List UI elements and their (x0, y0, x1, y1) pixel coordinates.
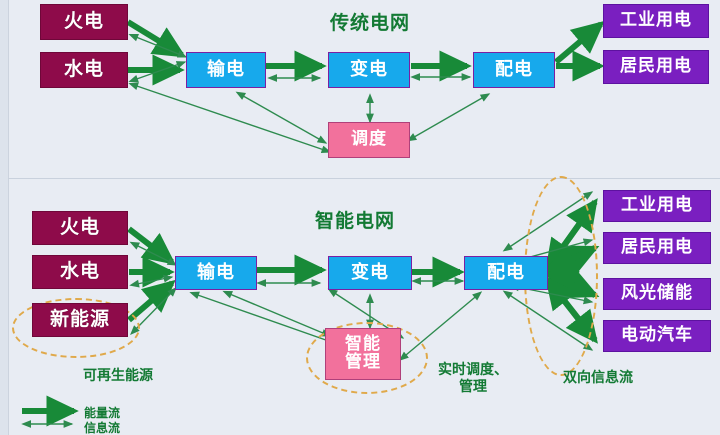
caption-dispatch: 实时调度、 管理 (418, 362, 528, 396)
caption-bidirectional: 双向信息流 (538, 370, 658, 387)
smart-management-line2: 管理 (345, 354, 381, 372)
node-traditional-dispatch[interactable]: 调度 (328, 122, 410, 158)
caption-dispatch-line1: 实时调度、 (418, 362, 528, 379)
node-traditional-substation[interactable]: 变电 (328, 52, 410, 88)
node-traditional-load-industrial[interactable]: 工业用电 (603, 4, 709, 38)
node-smart-load-residential[interactable]: 居民用电 (603, 232, 711, 264)
caption-renewable: 可再生能源 (58, 368, 178, 385)
caption-dispatch-line2: 管理 (418, 379, 528, 396)
node-smart-hydro[interactable]: 水电 (32, 255, 128, 289)
node-smart-load-industrial[interactable]: 工业用电 (603, 190, 711, 222)
node-smart-load-storage[interactable]: 风光储能 (603, 278, 711, 310)
node-smart-distribution[interactable]: 配电 (464, 256, 548, 290)
legend-info-flow-label: 信息流 (84, 419, 120, 435)
node-smart-new-energy[interactable]: 新能源 (32, 303, 128, 337)
panel-divider (8, 178, 720, 179)
traditional-info-flows (131, 35, 489, 152)
node-traditional-transmission[interactable]: 输电 (186, 52, 266, 88)
diagram-canvas: 传统电网 火电 水电 输电 变电 配电 调度 工业用电 居民用电 智能电网 火电… (0, 0, 720, 435)
node-traditional-thermal[interactable]: 火电 (40, 4, 128, 40)
node-smart-load-ev[interactable]: 电动汽车 (603, 320, 711, 352)
node-smart-substation[interactable]: 变电 (328, 256, 412, 290)
node-traditional-hydro[interactable]: 水电 (40, 52, 128, 88)
smart-grid-title: 智能电网 (315, 206, 395, 233)
node-smart-management[interactable]: 智能 管理 (325, 328, 401, 380)
node-traditional-distribution[interactable]: 配电 (473, 52, 555, 88)
node-traditional-load-residential[interactable]: 居民用电 (603, 50, 709, 84)
traditional-grid-title: 传统电网 (330, 8, 410, 35)
node-smart-transmission[interactable]: 输电 (175, 256, 257, 290)
node-smart-thermal[interactable]: 火电 (32, 211, 128, 245)
